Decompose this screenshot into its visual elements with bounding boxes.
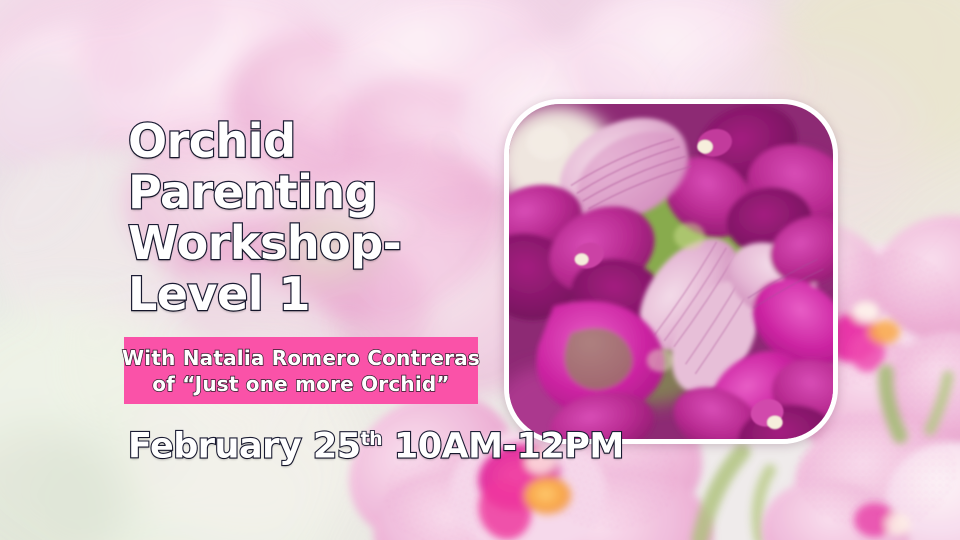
headline-line-3: Workshop- bbox=[128, 218, 528, 269]
headline-line-1: Orchid bbox=[128, 116, 528, 167]
poster-headline: Orchid Parenting Workshop- Level 1 bbox=[128, 116, 528, 320]
inset-orchid-photo bbox=[504, 99, 838, 444]
headline-line-4: Level 1 bbox=[128, 269, 528, 320]
presenter-business-line: of “Just one more Orchid” bbox=[152, 371, 450, 397]
poster-canvas: Orchid Parenting Workshop- Level 1 With … bbox=[0, 0, 960, 540]
presenter-name-line: With Natalia Romero Contreras bbox=[122, 345, 480, 371]
date-time-range: 10AM-12PM bbox=[394, 427, 624, 467]
date-month-day: February 25 bbox=[128, 427, 361, 467]
date-time-line: February 25th 10AM-12PM bbox=[128, 418, 624, 468]
presenter-band: With Natalia Romero Contreras of “Just o… bbox=[124, 337, 478, 404]
headline-line-2: Parenting bbox=[128, 167, 528, 218]
date-ordinal-suffix: th bbox=[361, 428, 383, 450]
